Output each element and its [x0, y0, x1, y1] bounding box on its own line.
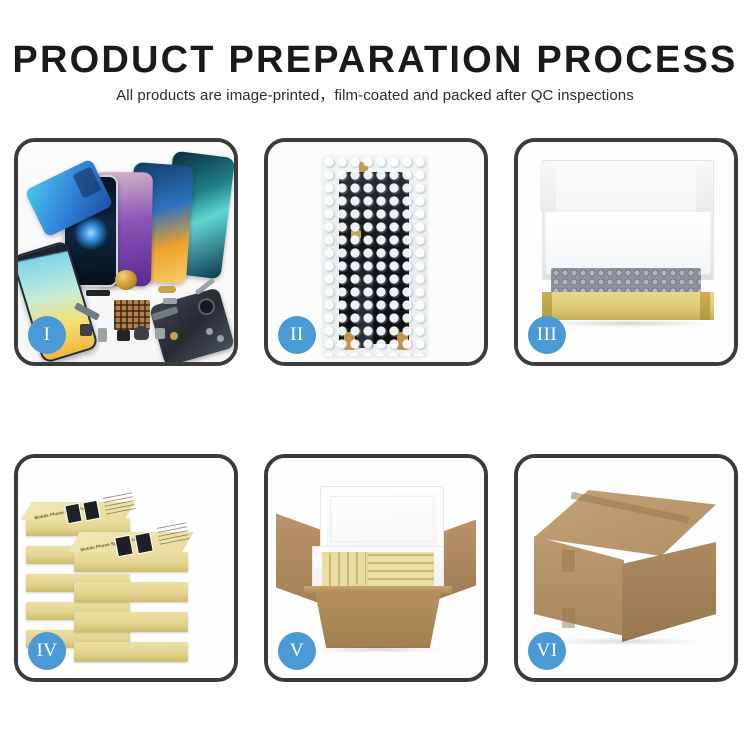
component-icon: [158, 286, 176, 293]
process-panel-grid: I II: [14, 138, 738, 682]
header: PRODUCT PREPARATION PROCESS All products…: [0, 0, 750, 130]
foam-lid-icon: [320, 486, 444, 552]
component-icon: [98, 328, 107, 342]
retail-box: [74, 552, 188, 572]
bubble-wrap-bag-icon: [323, 156, 427, 356]
component-icon: [134, 326, 149, 340]
step-badge: VI: [528, 632, 566, 670]
process-step-panel-4[interactable]: Mobile Phone Spare Parts Mobile Phone Sp…: [14, 454, 238, 682]
screw-icon: [206, 328, 213, 335]
box-flap-icon: [540, 162, 556, 213]
step-badge: III: [528, 316, 566, 354]
step-badge: IV: [28, 632, 66, 670]
yellow-carton-front-icon: [542, 292, 714, 320]
bubble-wrapped-items-icon: [551, 268, 701, 295]
box-flap-icon: [696, 162, 712, 213]
process-step-panel-6[interactable]: VI: [514, 454, 738, 682]
component-icon: [163, 298, 177, 304]
component-icon: [86, 290, 110, 296]
screw-grid-icon: [114, 300, 150, 330]
packing-tape-icon: [562, 608, 575, 628]
component-icon: [155, 328, 165, 339]
page-title: PRODUCT PREPARATION PROCESS: [0, 41, 750, 79]
yellow-carton-side-icon: [700, 292, 710, 320]
page-subtitle: All products are image-printed，film-coat…: [0, 88, 750, 103]
component-icon: [80, 324, 92, 336]
drop-shadow: [314, 646, 442, 653]
drop-shadow: [544, 638, 704, 645]
process-step-panel-3[interactable]: III: [514, 138, 738, 366]
step-badge: V: [278, 632, 316, 670]
retail-box: [74, 582, 188, 602]
foam-sheet-icon: [546, 212, 710, 274]
step-badge: I: [28, 316, 66, 354]
step-badge: II: [278, 316, 316, 354]
drop-shadow: [548, 320, 708, 327]
retail-box: [74, 642, 188, 662]
process-step-panel-1[interactable]: I: [14, 138, 238, 366]
bubble-texture: [323, 156, 427, 356]
component-icon: [117, 330, 130, 341]
retail-box: [74, 612, 188, 632]
process-step-panel-2[interactable]: II: [264, 138, 488, 366]
yellow-boxes-inside-icon: [322, 552, 434, 586]
speaker-module-icon: [115, 270, 137, 290]
carton-front-icon: [306, 590, 450, 648]
process-step-panel-5[interactable]: V: [264, 454, 488, 682]
packing-tape-icon: [562, 550, 575, 572]
screw-icon: [217, 335, 224, 342]
component-icon: [170, 332, 178, 340]
